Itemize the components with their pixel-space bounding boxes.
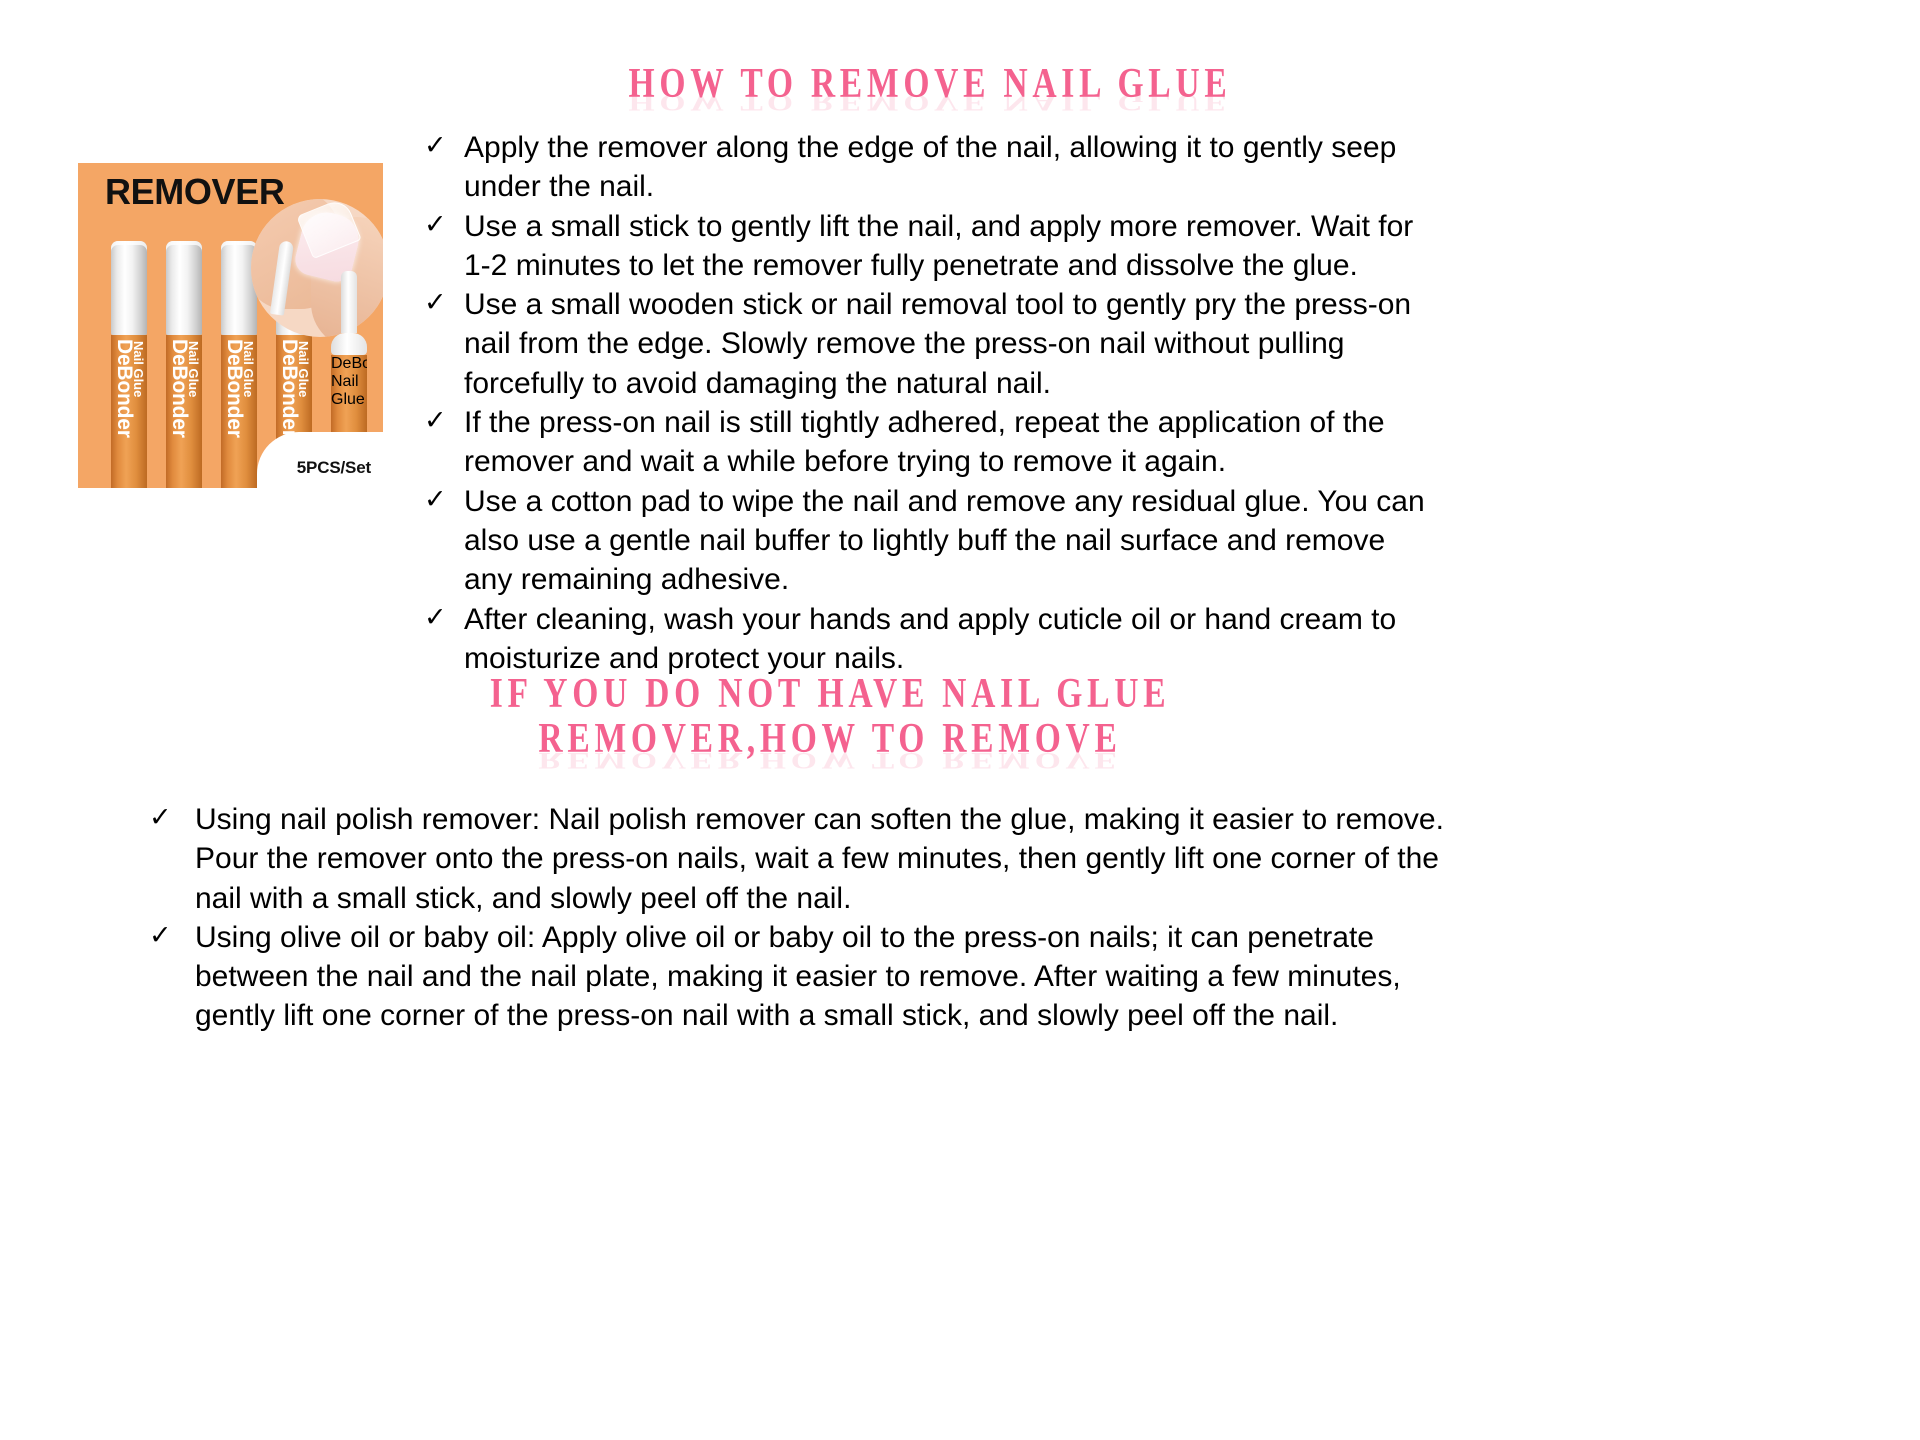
list-item: ✓ After cleaning, wash your hands and ap… (418, 600, 1430, 679)
pen-cap (111, 241, 147, 335)
pen-nozzle (341, 271, 357, 333)
checkmark-icon: ✓ (418, 403, 464, 438)
pen-shoulder (331, 333, 367, 355)
pen-body: DeBonder Nail Glue (111, 335, 147, 488)
list-item: ✓ Apply the remover along the edge of th… (418, 128, 1430, 207)
list-item-text: Use a small stick to gently lift the nai… (464, 207, 1430, 286)
list-item-text: After cleaning, wash your hands and appl… (464, 600, 1430, 679)
list-item-text: Using olive oil or baby oil: Apply olive… (195, 918, 1473, 1036)
pack-count-label: 5PCS/Set (297, 458, 371, 478)
heading-text-line2: REMOVER,HOW TO REMOVE (406, 717, 1254, 762)
list-item: ✓ Using nail polish remover: Nail polish… (143, 800, 1473, 918)
pen-brand-main: DeBonder (331, 355, 367, 373)
checkmark-icon: ✓ (418, 482, 464, 517)
section-heading-how-to-remove: HOW TO REMOVE NAIL GLUE HOW TO REMOVE NA… (400, 62, 1460, 107)
list-item: ✓ Use a small stick to gently lift the n… (418, 207, 1430, 286)
list-item-text: If the press-on nail is still tightly ad… (464, 403, 1430, 482)
list-item: ✓ Use a cotton pad to wipe the nail and … (418, 482, 1430, 600)
list-item-text: Use a small wooden stick or nail removal… (464, 285, 1430, 403)
product-image: REMOVER DeBonder Nail Glue DeBonder Nail… (78, 163, 383, 488)
pen-brand-sub: Nail Glue (297, 341, 310, 397)
pen-brand-sub: Nail Glue (187, 341, 200, 397)
list-item-text: Apply the remover along the edge of the … (464, 128, 1430, 207)
pack-count-badge: 5PCS/Set (257, 432, 383, 488)
pen-body: DeBonder Nail Glue (166, 335, 202, 488)
heading-text-line1: IF YOU DO NOT HAVE NAIL GLUE (406, 672, 1254, 717)
checkmark-icon: ✓ (418, 285, 464, 320)
section-heading-no-remover: REMOVER,HOW TO REMOVE IF YOU DO NOT HAVE… (300, 672, 1360, 761)
product-image-label: REMOVER (105, 171, 285, 213)
list-item: ✓ Using olive oil or baby oil: Apply oli… (143, 918, 1473, 1036)
pen-brand-sub: Nail Glue (242, 341, 255, 397)
pen-bottle: DeBonder Nail Glue (111, 241, 147, 488)
list-item: ✓ If the press-on nail is still tightly … (418, 403, 1430, 482)
instruction-list-alternatives: ✓ Using nail polish remover: Nail polish… (143, 800, 1473, 1036)
instruction-list-main: ✓ Apply the remover along the edge of th… (418, 128, 1430, 678)
heading-text: HOW TO REMOVE NAIL GLUE (506, 62, 1354, 107)
pen-cap (166, 241, 202, 335)
pen-brand-sub: Nail Glue (132, 341, 145, 397)
pen-brand-sub: Nail Glue (331, 373, 367, 409)
list-item-text: Using nail polish remover: Nail polish r… (195, 800, 1473, 918)
checkmark-icon: ✓ (143, 800, 195, 835)
list-item-text: Use a cotton pad to wipe the nail and re… (464, 482, 1430, 600)
checkmark-icon: ✓ (418, 600, 464, 635)
checkmark-icon: ✓ (418, 128, 464, 163)
pen-bottle: DeBonder Nail Glue (166, 241, 202, 488)
list-item: ✓ Use a small wooden stick or nail remov… (418, 285, 1430, 403)
pen-body: DeBonder Nail Glue (221, 335, 257, 488)
checkmark-icon: ✓ (418, 207, 464, 242)
checkmark-icon: ✓ (143, 918, 195, 953)
